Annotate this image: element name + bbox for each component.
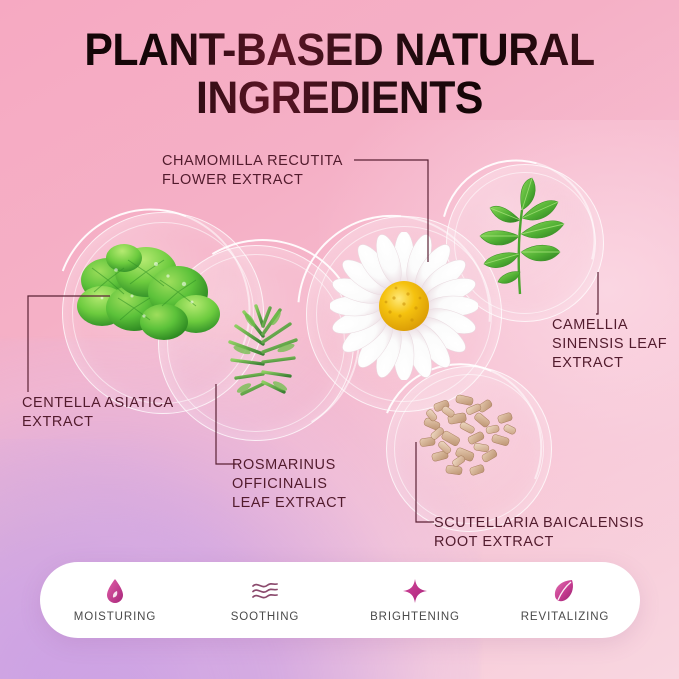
ingredient-label-centella: CENTELLA ASIATICA EXTRACT — [22, 394, 222, 432]
benefit-label: SOOTHING — [231, 611, 300, 623]
benefit-label: REVITALIZING — [521, 611, 610, 623]
benefit-label: BRIGHTENING — [370, 611, 460, 623]
ingredient-label-scutellaria: SCUTELLARIA BAICALENSIS ROOT EXTRACT — [434, 514, 674, 552]
background-violet-glow-2 — [0, 439, 270, 679]
benefit-brightening[interactable]: BRIGHTENING — [340, 578, 490, 623]
benefit-soothing[interactable]: SOOTHING — [190, 578, 340, 623]
dried-root-chips-image — [412, 388, 528, 480]
benefit-moisturing[interactable]: MOISTURING — [40, 578, 190, 623]
chamomile-flower-image — [330, 232, 478, 380]
water-drop-icon — [105, 578, 125, 604]
green-tea-leaves-image — [462, 176, 590, 304]
sparkle-icon — [403, 578, 427, 604]
ingredient-label-chamomilla: CHAMOMILLA RECUTITA FLOWER EXTRACT — [162, 152, 362, 190]
page-title-line-1: PLANT-BASED NATURAL — [17, 26, 662, 74]
ingredient-label-camellia: CAMELLIA SINENSIS LEAF EXTRACT — [552, 316, 678, 373]
rosemary-sprig-image — [208, 300, 318, 410]
benefit-label: MOISTURING — [74, 611, 156, 623]
leaf-icon — [553, 578, 577, 604]
page-title-line-2: INGREDIENTS — [17, 74, 662, 122]
poster-canvas: PLANT-BASED NATURAL INGREDIENTS CHAMOMIL… — [0, 0, 679, 679]
benefit-revitalizing[interactable]: REVITALIZING — [490, 578, 640, 623]
waves-icon — [250, 578, 280, 604]
benefits-bar: MOISTURING SOOTHING — [40, 562, 640, 638]
ingredient-label-rosmarinus: ROSMARINUS OFFICINALIS LEAF EXTRACT — [232, 456, 402, 513]
page-title: PLANT-BASED NATURAL INGREDIENTS — [17, 26, 662, 122]
